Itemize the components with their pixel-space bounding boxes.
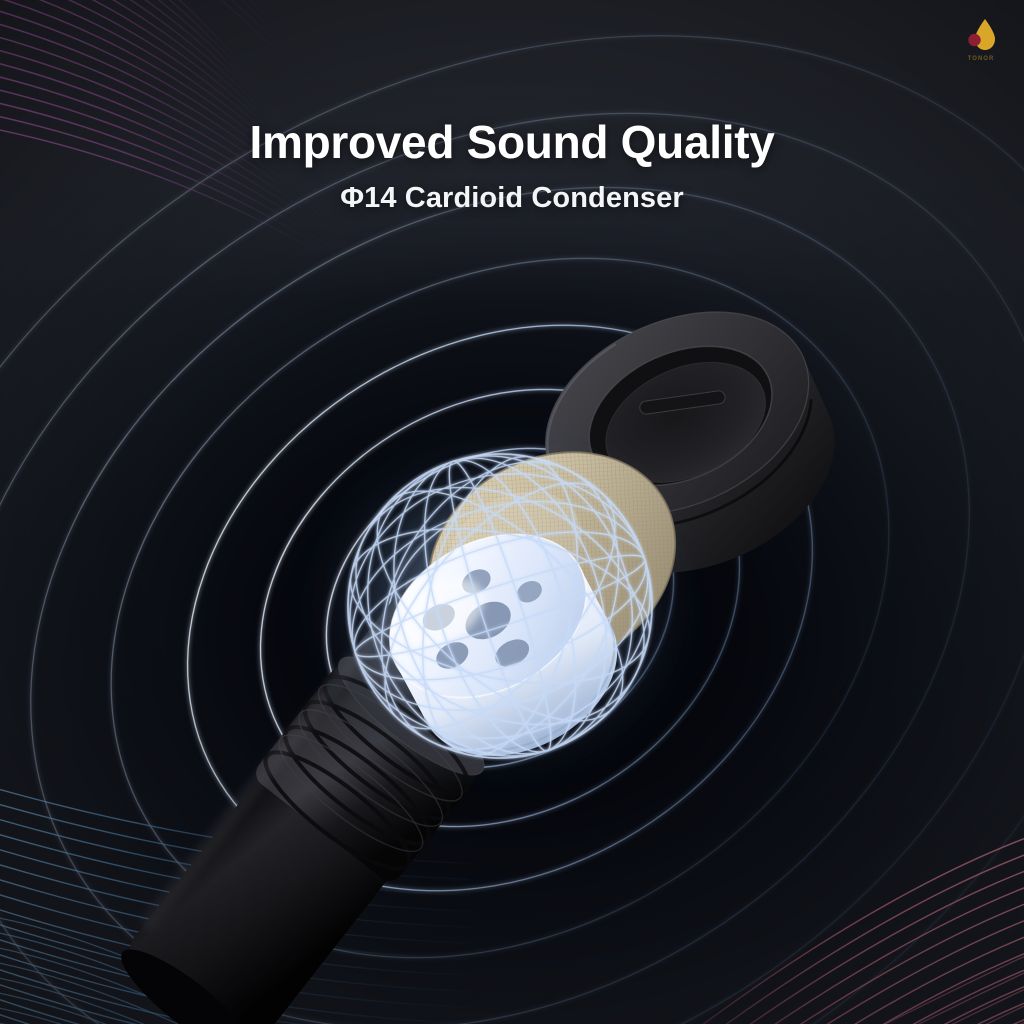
page-subtitle: Φ14 Cardioid Condenser	[0, 183, 1024, 215]
brand-logo: TONOR	[952, 8, 1010, 66]
product-image-canvas: Improved Sound Quality Φ14 Cardioid Cond…	[0, 0, 1024, 1024]
page-title: Improved Sound Quality	[0, 118, 1024, 167]
brand-name: TONOR	[952, 56, 1010, 62]
headline-block: Improved Sound Quality Φ14 Cardioid Cond…	[0, 118, 1024, 215]
